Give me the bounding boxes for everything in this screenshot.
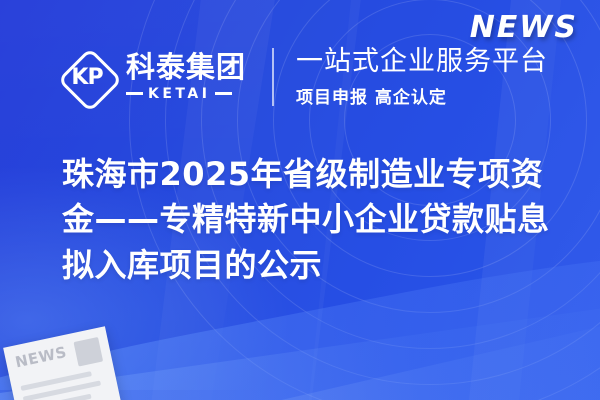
header-divider (272, 48, 274, 106)
newspaper-heading: NEWS (14, 343, 69, 371)
brand-name-en-row: KETAI (126, 86, 246, 102)
brand-name-cn: 科泰集团 (126, 52, 246, 82)
brand-name-en: KETAI (148, 86, 210, 102)
brand-text: 科泰集团 KETAI (126, 52, 246, 101)
newspaper-image-placeholder (73, 337, 103, 367)
tagline-block: 一站式企业服务平台 项目申报 高企认定 (296, 46, 548, 107)
page-title: 珠海市2025年省级制造业专项资金——专精特新中小企业贷款贴息拟入库项目的公示 (62, 152, 562, 288)
news-badge-label: NEWS (470, 10, 578, 45)
dash-left-icon (126, 92, 143, 95)
tagline-main: 一站式企业服务平台 (296, 46, 548, 77)
tagline-sub: 项目申报 高企认定 (296, 83, 548, 108)
kp-monogram-label: KP (58, 48, 116, 106)
banner-header: KP 科泰集团 KETAI 一站式企业服务平台 项目申报 高企认定 (58, 44, 548, 110)
dash-right-icon (215, 92, 232, 95)
news-banner: NEWS KP 科泰集团 KETAI 一站式企业服务平台 项目申报 高企认定 珠… (0, 0, 600, 400)
ketai-logo-icon: KP (58, 48, 116, 106)
